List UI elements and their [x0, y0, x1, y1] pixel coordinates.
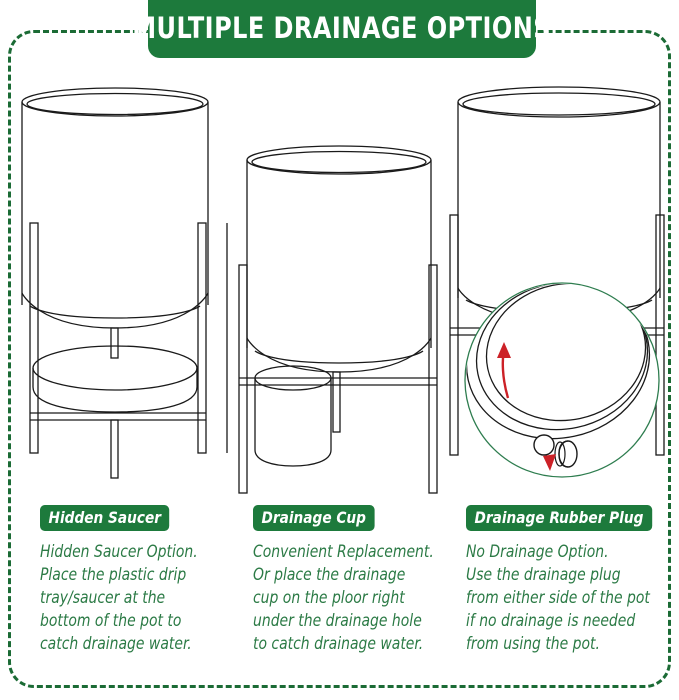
planter-with-drainage-cup-illustration — [233, 60, 453, 500]
pot-rim-outer — [458, 87, 660, 117]
drainage-cup-bottom — [255, 450, 331, 466]
page-title: MULTIPLE DRAINAGE OPTIONS — [133, 11, 552, 45]
pot-bottom-inner-curve — [30, 306, 200, 318]
caption-line: Or place the drainage — [253, 563, 453, 586]
stand-center-post — [333, 372, 340, 432]
caption-line: under the drainage hole — [253, 609, 453, 632]
pot-bottom-curve — [22, 293, 208, 328]
pot-rim-inner — [27, 94, 203, 115]
magnifier-circle — [452, 265, 664, 477]
badge-drainage-rubber-plug: Drainage Rubber Plug — [466, 505, 652, 531]
drainage-hole — [534, 435, 554, 455]
stand-center-post-upper — [111, 328, 118, 358]
captions-row: Hidden Saucer Hidden Saucer Option. Plac… — [0, 505, 679, 685]
stand-leg-right — [198, 223, 206, 453]
caption-line: catch drainage water. — [40, 632, 240, 655]
saucer-top-ellipse — [33, 346, 197, 390]
body-text-hidden-saucer: Hidden Saucer Option. Place the plastic … — [40, 540, 240, 655]
caption-line: if no drainage is needed — [466, 609, 666, 632]
pot-bottom-inner-curve — [255, 351, 423, 363]
caption-column-hidden-saucer: Hidden Saucer Hidden Saucer Option. Plac… — [40, 505, 253, 685]
illustrations-area — [0, 60, 679, 500]
planter-with-rubber-plug-illustration — [440, 60, 675, 500]
pot-rim-inner — [463, 93, 655, 115]
stand-center-post-lower — [111, 420, 118, 478]
saucer-bottom-curve — [33, 387, 197, 412]
caption-line: Use the drainage plug — [466, 563, 666, 586]
pot-rim-inner — [252, 152, 426, 173]
caption-line: from either side of the pot — [466, 586, 666, 609]
pot-rim-outer — [22, 88, 208, 116]
title-banner: MULTIPLE DRAINAGE OPTIONS — [148, 0, 536, 58]
caption-line: Place the plastic drip — [40, 563, 240, 586]
rubber-plug-face — [559, 441, 577, 467]
caption-column-rubber-plug: Drainage Rubber Plug No Drainage Option.… — [466, 505, 679, 685]
caption-line: No Drainage Option. — [466, 540, 666, 563]
caption-line: tray/saucer at the — [40, 586, 240, 609]
body-text-drainage-cup: Convenient Replacement. Or place the dra… — [253, 540, 453, 655]
badge-hidden-saucer: Hidden Saucer — [40, 505, 170, 531]
caption-line: Hidden Saucer Option. — [40, 540, 240, 563]
caption-line: to catch drainage water. — [253, 632, 453, 655]
body-text-rubber-plug: No Drainage Option. Use the drainage plu… — [466, 540, 666, 655]
planter-with-hidden-saucer-illustration — [8, 60, 238, 500]
caption-column-drainage-cup: Drainage Cup Convenient Replacement. Or … — [253, 505, 466, 685]
caption-line: bottom of the pot to — [40, 609, 240, 632]
pot-rim-outer — [247, 146, 431, 174]
stand-leg-left — [30, 223, 38, 453]
stand-leg-left — [239, 265, 247, 493]
stand-leg-right — [429, 265, 437, 493]
caption-line: cup on the ploor right — [253, 586, 453, 609]
badge-drainage-cup: Drainage Cup — [253, 505, 374, 531]
caption-line: from using the pot. — [466, 632, 666, 655]
caption-line: Convenient Replacement. — [253, 540, 453, 563]
